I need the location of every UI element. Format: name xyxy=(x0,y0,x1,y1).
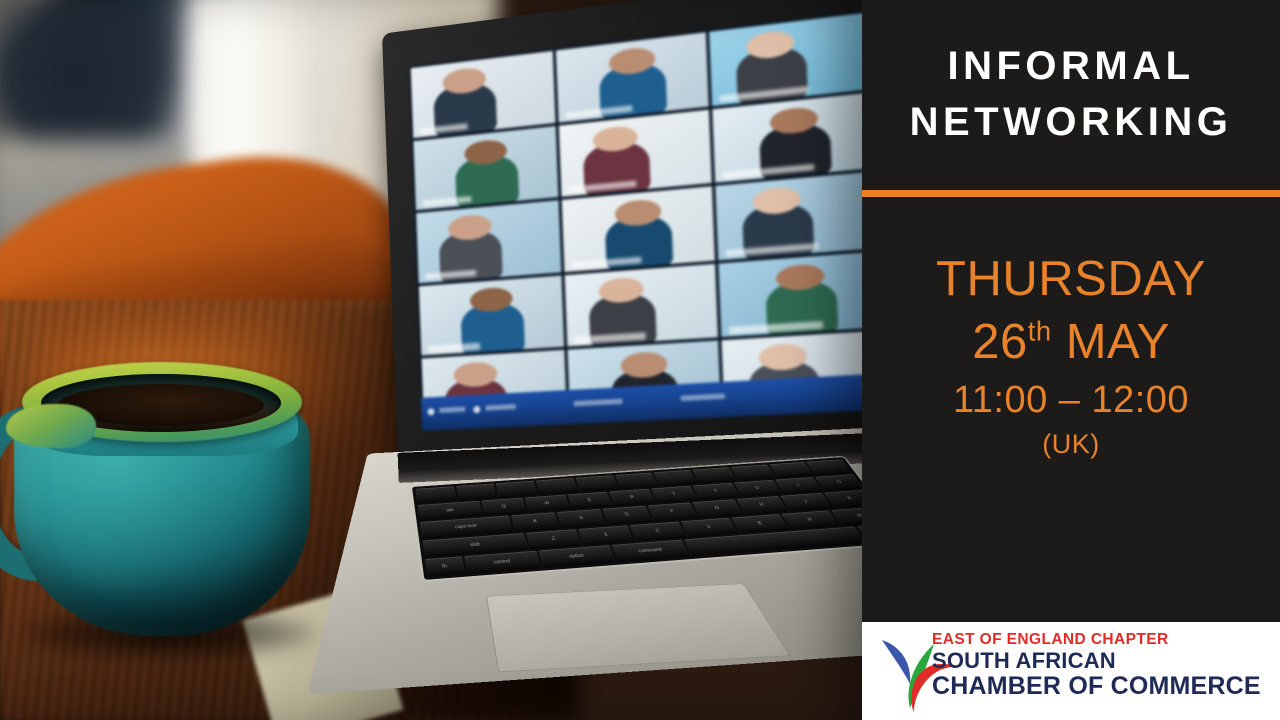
video-call-tile xyxy=(556,32,710,122)
key-n: N xyxy=(781,510,839,529)
key-label: C xyxy=(630,521,687,541)
key-o: O xyxy=(815,474,862,491)
video-call-tile xyxy=(419,275,564,356)
key-label: I xyxy=(775,477,824,494)
video-call-tile xyxy=(413,126,558,211)
key-label: V xyxy=(681,517,738,537)
key-label: W xyxy=(524,495,570,513)
info-panel: INFORMAL NETWORKING THURSDAY 26th MAY 11… xyxy=(862,0,1280,720)
key-q: Q xyxy=(482,498,527,516)
key-r: R xyxy=(609,489,656,507)
key-option: option xyxy=(538,545,616,568)
key-label: fn xyxy=(425,556,465,577)
key-label xyxy=(456,483,498,500)
key-z: Z xyxy=(526,529,582,549)
logo-org-line-2: CHAMBER OF COMMERCE xyxy=(932,673,1261,700)
mic-icon xyxy=(427,409,434,416)
laptop-lid xyxy=(382,0,862,462)
video-call-tile xyxy=(713,92,862,183)
key-blank xyxy=(615,473,659,490)
logo-chapter-line: EAST OF ENGLAND CHAPTER xyxy=(932,631,1261,649)
key-label: O xyxy=(815,474,862,491)
key-t: T xyxy=(651,486,698,504)
key-j: J xyxy=(780,493,832,511)
key-label xyxy=(692,467,737,484)
hero-photo: tabQWERTYUIOcaps lockASDFGHJKshiftZXCVBN… xyxy=(0,0,862,720)
event-time: 11:00 – 12:00 xyxy=(862,381,1280,419)
key-label: R xyxy=(609,489,656,507)
event-details: THURSDAY 26th MAY 11:00 – 12:00 (UK) xyxy=(862,255,1280,458)
key-b: B xyxy=(731,514,789,534)
page-title: INFORMAL NETWORKING xyxy=(862,38,1280,150)
key-label: Q xyxy=(482,498,527,516)
mic-label xyxy=(439,407,465,413)
key-label: B xyxy=(731,514,789,534)
video-call-tile xyxy=(716,171,862,260)
key-w: W xyxy=(524,495,570,513)
video-call-tile xyxy=(564,264,718,347)
event-date: 26th MAY xyxy=(862,318,1280,367)
event-flyer: tabQWERTYUIOcaps lockASDFGHJKshiftZXCVBN… xyxy=(0,0,1280,720)
key-label: G xyxy=(692,499,743,517)
key-label: E xyxy=(567,492,613,510)
key-d: D xyxy=(602,506,652,525)
key-label: T xyxy=(651,486,698,504)
chat-label xyxy=(681,394,725,402)
video-call-tile xyxy=(561,186,715,272)
key-u: U xyxy=(734,480,782,497)
key-blank xyxy=(692,467,737,484)
key-f: F xyxy=(647,503,698,522)
event-timezone: (UK) xyxy=(862,431,1280,458)
event-day: THURSDAY xyxy=(862,255,1280,304)
key-label xyxy=(415,486,456,504)
mug-handle-joint xyxy=(6,404,96,448)
key-blank xyxy=(731,465,776,481)
key-c: C xyxy=(630,521,687,541)
logo-band: EAST OF ENGLAND CHAPTER SOUTH AFRICAN CH… xyxy=(862,622,1280,720)
event-month: MAY xyxy=(1066,315,1170,369)
key-label: Y xyxy=(693,483,741,500)
key-label: X xyxy=(578,525,634,545)
key-y: Y xyxy=(693,483,741,500)
video-call-tile xyxy=(709,12,862,105)
video-call-tile xyxy=(416,200,561,283)
key-label xyxy=(575,475,618,492)
key-label xyxy=(654,470,698,487)
key-label: S xyxy=(557,509,606,528)
key-i: I xyxy=(775,477,824,494)
key-label xyxy=(496,481,538,498)
coffee-mug xyxy=(0,358,324,658)
key-control: control xyxy=(464,551,541,574)
participant-name-label xyxy=(565,105,632,119)
key-s: S xyxy=(557,509,606,528)
video-call-tile xyxy=(558,109,712,197)
participants-label xyxy=(574,399,623,407)
key-label xyxy=(807,459,853,475)
key-fn: fn xyxy=(425,556,465,577)
title-line-2: NETWORKING xyxy=(862,94,1280,150)
key-label: D xyxy=(602,506,652,525)
key-blank xyxy=(496,481,538,498)
camera-label xyxy=(485,404,516,411)
video-call-grid xyxy=(409,10,862,431)
key-label: J xyxy=(780,493,832,511)
key-blank xyxy=(654,470,698,487)
key-blank xyxy=(575,475,618,492)
key-blank xyxy=(415,486,456,504)
key-blank xyxy=(456,483,498,500)
key-label xyxy=(731,465,776,481)
key-label: Z xyxy=(526,529,582,549)
key-e: E xyxy=(567,492,613,510)
video-call-tile xyxy=(719,251,862,337)
key-h: H xyxy=(737,496,789,514)
key-x: X xyxy=(578,525,634,545)
key-label: option xyxy=(538,545,616,568)
event-date-number: 26 xyxy=(972,315,1028,369)
key-command: command xyxy=(611,539,689,562)
key-label: A xyxy=(511,513,560,532)
key-a: A xyxy=(511,513,560,532)
key-label: F xyxy=(647,503,698,522)
key-blank xyxy=(536,478,579,495)
key-label: N xyxy=(781,510,839,529)
key-label xyxy=(536,478,579,495)
logo-wordmark: EAST OF ENGLAND CHAPTER SOUTH AFRICAN CH… xyxy=(932,631,1261,700)
video-call-tile xyxy=(411,51,556,138)
key-label xyxy=(615,473,659,490)
title-line-1: INFORMAL xyxy=(862,38,1280,94)
key-label: command xyxy=(611,539,689,562)
event-date-ordinal: th xyxy=(1028,316,1052,347)
key-label: control xyxy=(464,551,541,574)
key-label: U xyxy=(734,480,782,497)
key-blank xyxy=(807,459,853,475)
camera-icon xyxy=(473,406,480,413)
logo-org-line-1: SOUTH AFRICAN xyxy=(932,649,1261,673)
orange-divider xyxy=(862,190,1280,197)
key-g: G xyxy=(692,499,743,517)
key-label: H xyxy=(737,496,789,514)
laptop-screen xyxy=(409,10,862,431)
key-v: V xyxy=(681,517,738,537)
